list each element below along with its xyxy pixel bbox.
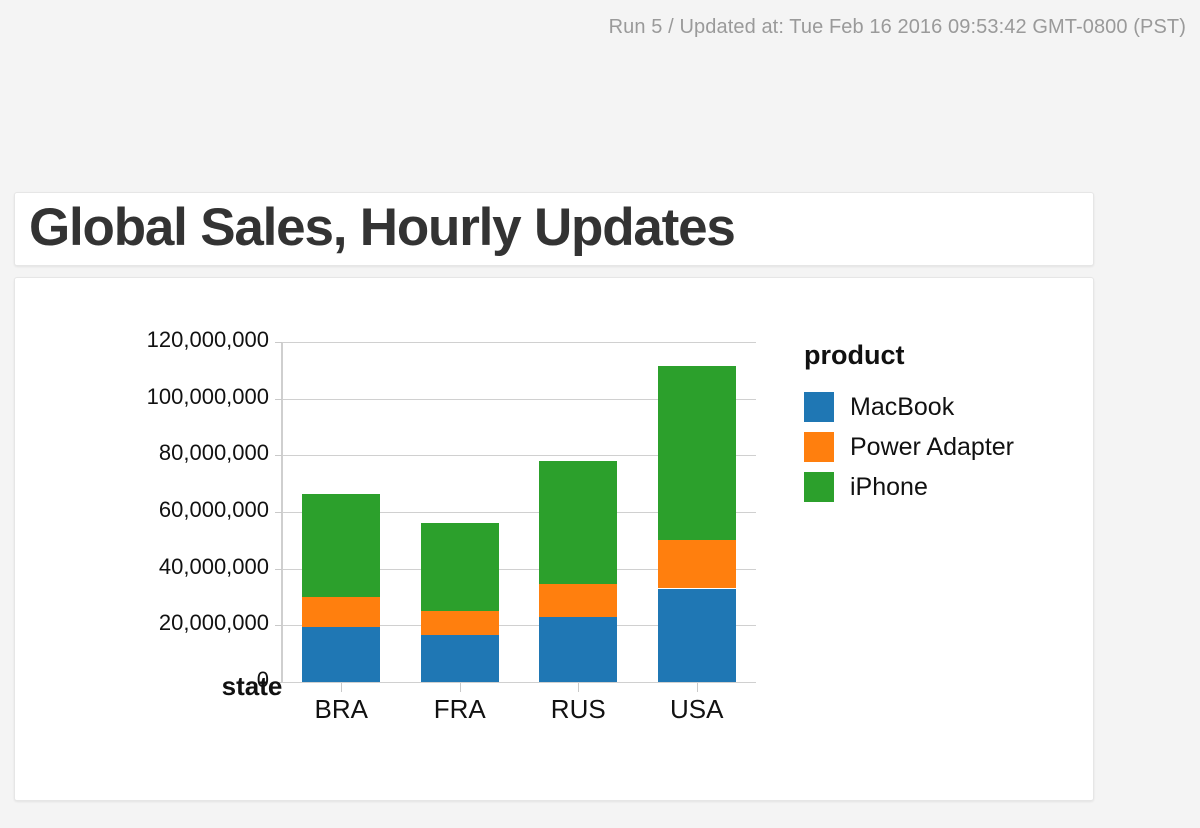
x-tick-label-fra: FRA (400, 694, 520, 725)
legend-title: product (804, 340, 1014, 371)
y-tick-label: 60,000,000 (89, 497, 269, 523)
x-tick-mark (341, 683, 342, 692)
y-tick-mark (275, 512, 282, 513)
legend-label: Power Adapter (850, 433, 1014, 462)
legend-label: iPhone (850, 473, 928, 502)
bar-segment-power-adapter[interactable] (421, 611, 499, 635)
legend-entries: MacBookPower AdapteriPhone (804, 387, 1014, 507)
y-tick-mark (275, 455, 282, 456)
plot-area: 020,000,00040,000,00060,000,00080,000,00… (282, 342, 756, 682)
y-tick-label: 80,000,000 (89, 440, 269, 466)
legend-swatch (804, 472, 834, 502)
x-tick-mark (578, 683, 579, 692)
y-tick-mark (275, 625, 282, 626)
bar-stack-usa[interactable] (658, 342, 736, 682)
bar-segment-iphone[interactable] (421, 523, 499, 611)
legend-label: MacBook (850, 393, 954, 422)
bar-segment-power-adapter[interactable] (539, 584, 617, 617)
legend-item-iphone[interactable]: iPhone (804, 467, 1014, 507)
bar-segment-power-adapter[interactable] (302, 597, 380, 627)
legend-swatch (804, 392, 834, 422)
bar-segment-macbook[interactable] (421, 635, 499, 682)
x-tick-label-usa: USA (637, 694, 757, 725)
bar-segment-macbook[interactable] (658, 589, 736, 683)
y-tick-label: 100,000,000 (89, 384, 269, 410)
bar-stack-rus[interactable] (539, 342, 617, 682)
y-tick-mark (275, 569, 282, 570)
bar-segment-iphone[interactable] (658, 366, 736, 540)
y-tick-label: 120,000,000 (89, 327, 269, 353)
y-tick-mark (275, 342, 282, 343)
bar-segment-iphone[interactable] (302, 494, 380, 597)
title-card: Global Sales, Hourly Updates (14, 192, 1094, 266)
legend-swatch (804, 432, 834, 462)
bar-stack-bra[interactable] (302, 342, 380, 682)
y-tick-mark (275, 399, 282, 400)
y-tick-label: 40,000,000 (89, 554, 269, 580)
legend-item-power-adapter[interactable]: Power Adapter (804, 427, 1014, 467)
run-status-header: Run 5 / Updated at: Tue Feb 16 2016 09:5… (0, 0, 1200, 56)
bar-segment-macbook[interactable] (539, 617, 617, 682)
x-axis-label: state (192, 671, 312, 702)
bar-segment-iphone[interactable] (539, 461, 617, 584)
legend: product MacBookPower AdapteriPhone (804, 340, 1014, 507)
x-tick-label-rus: RUS (518, 694, 638, 725)
bar-stack-fra[interactable] (421, 342, 499, 682)
page-title: Global Sales, Hourly Updates (29, 197, 735, 258)
chart-card: sales 020,000,00040,000,00060,000,00080,… (14, 277, 1094, 801)
bar-segment-power-adapter[interactable] (658, 540, 736, 588)
x-tick-mark (460, 683, 461, 692)
bar-segment-macbook[interactable] (302, 627, 380, 682)
y-tick-label: 20,000,000 (89, 610, 269, 636)
gridline (282, 682, 756, 683)
legend-item-macbook[interactable]: MacBook (804, 387, 1014, 427)
x-tick-mark (697, 683, 698, 692)
